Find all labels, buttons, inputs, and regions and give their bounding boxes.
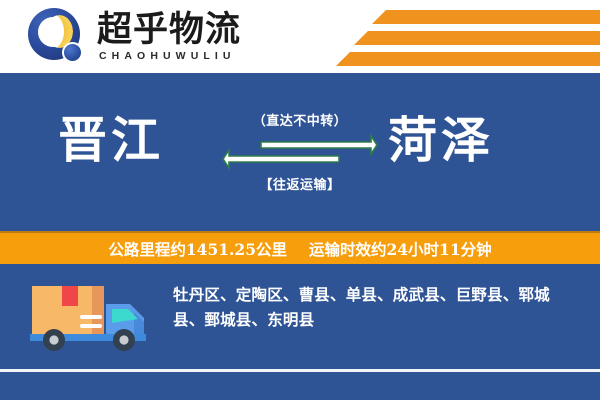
brand-name-pinyin: CHAOHUWULIU [97,50,241,62]
road-distance-stat: 公路里程约1451.25公里 [108,238,287,260]
route-panel: 晋江 （直达不中转） 【往返运输】 菏泽 [0,76,600,229]
destination-city-name: 菏泽 [388,116,494,165]
transit-time-stat: 运输时效约24小时11分钟 [309,238,492,260]
brand-text-block: 超乎物流 CHAOHUWULIU [97,12,241,63]
roundtrip-shipping-note: 【往返运输】 [224,174,376,193]
brand-logo-block: 超乎物流 CHAOHUWULIU [26,4,241,70]
direct-shipping-note: （直达不中转） [224,110,376,129]
route-stats-bar: 公路里程约1451.25公里 运输时效约24小时11分钟 [0,231,600,264]
origin-city-name: 晋江 [58,116,164,165]
delivery-truck-icon [26,282,156,354]
coverage-areas-text: 牡丹区、定陶区、曹县、单县、成武县、巨野县、郓城县、鄄城县、东明县 [173,282,579,332]
logistics-route-banner: 超乎物流 CHAOHUWULIU 晋江 （直达不中转） 【往返运输】 菏泽 [0,0,600,400]
route-arrow-group: （直达不中转） 【往返运输】 [224,110,376,200]
coverage-area-panel: 牡丹区、定陶区、曹县、单县、成武县、巨野县、郓城县、鄄城县、东明县 [0,264,600,370]
logo-small-dot [62,42,83,63]
orange-slanted-stripes-icon [330,10,600,66]
bidirectional-arrow-icon [221,132,379,174]
brand-name-chinese: 超乎物流 [97,12,241,48]
footer-strip [0,372,600,400]
banner-header: 超乎物流 CHAOHUWULIU [0,0,600,73]
circle-crescent-logo-icon [26,6,88,68]
